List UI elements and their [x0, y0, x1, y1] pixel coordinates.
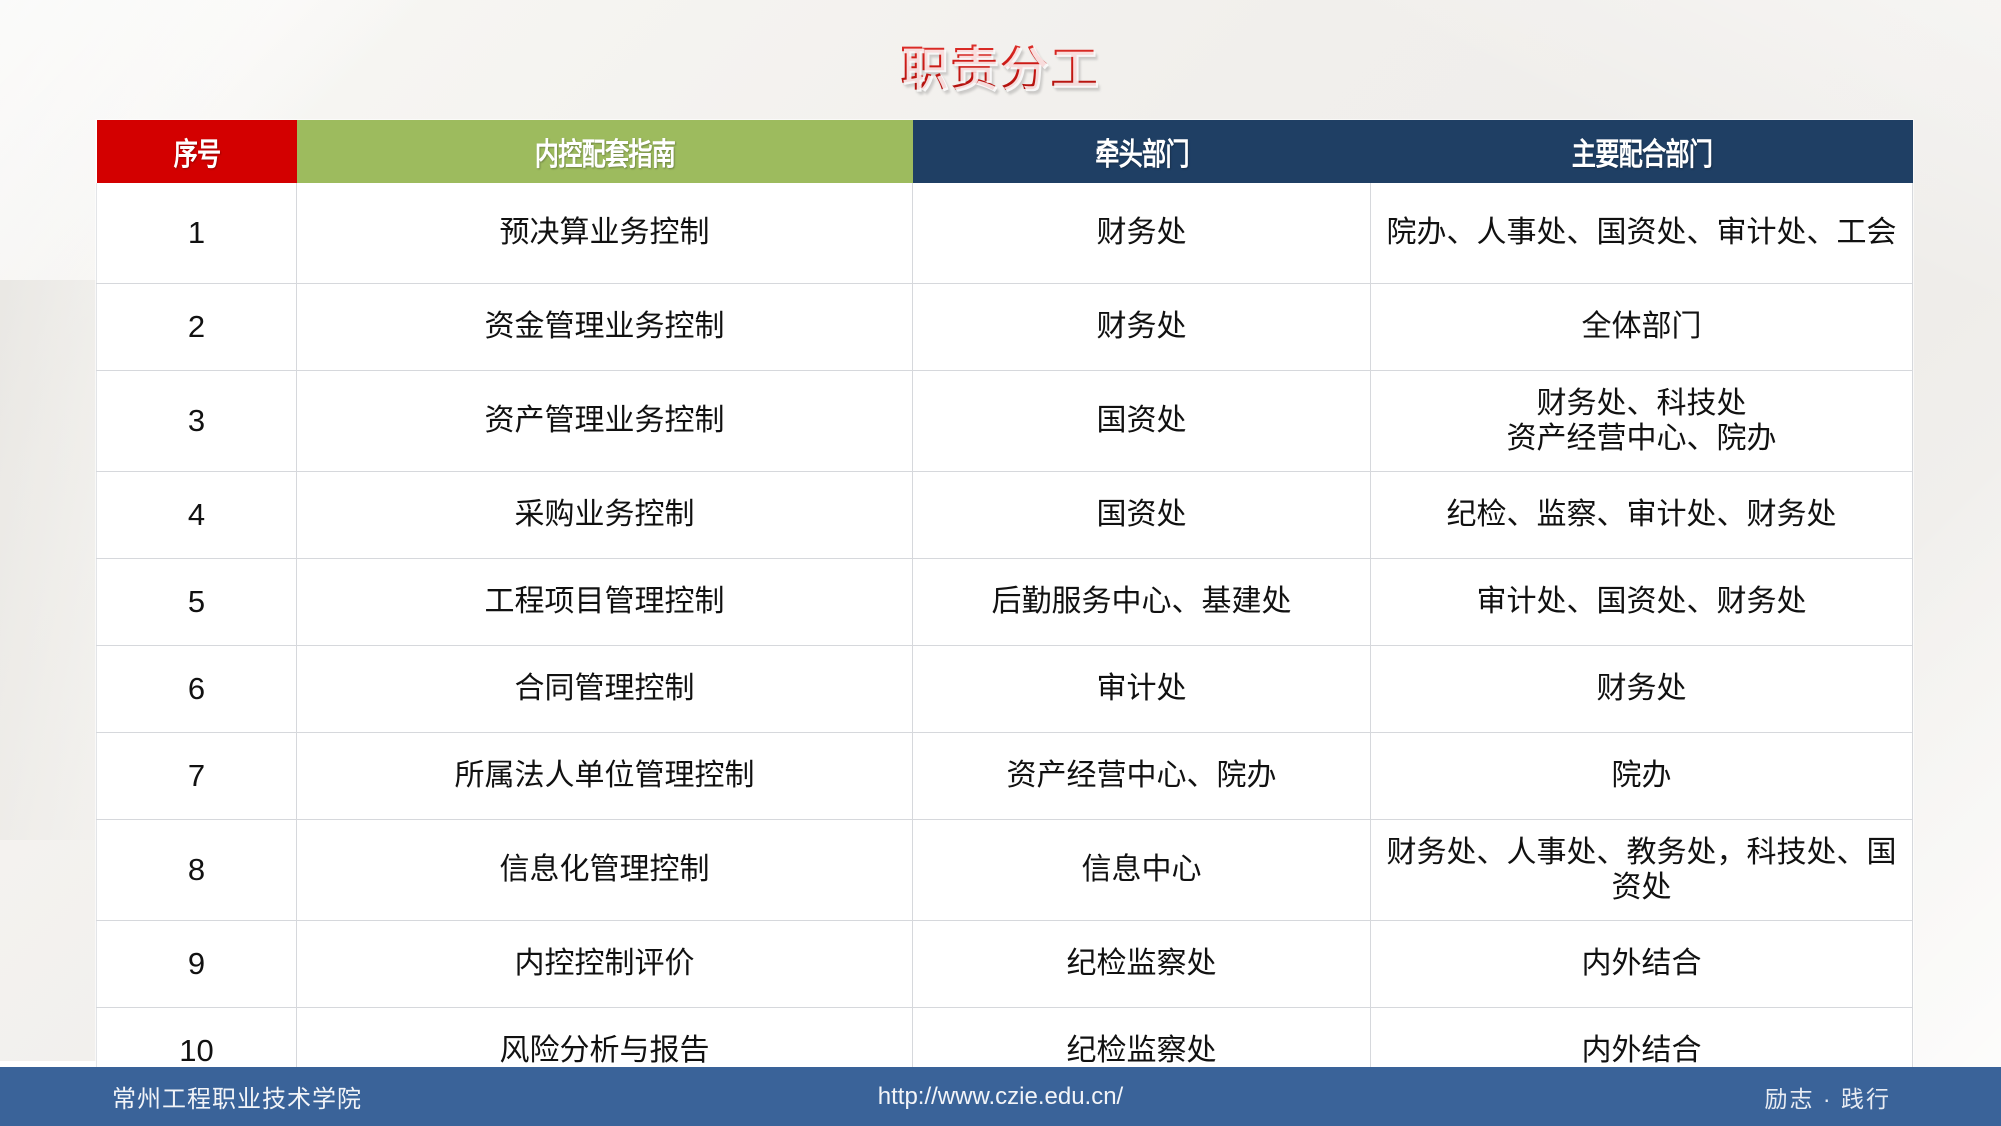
table-header-row: 序号 内控配套指南 牵头部门 主要配合部门 — [97, 120, 1913, 183]
cell-guide: 资金管理业务控制 — [297, 284, 913, 371]
table-row: 8信息化管理控制信息中心财务处、人事处、教务处，科技处、国资处 — [97, 820, 1913, 921]
responsibility-table: 序号 内控配套指南 牵头部门 主要配合部门 1预决算业务控制财务处院办、人事处、… — [96, 120, 1913, 1095]
cell-lead: 财务处 — [913, 183, 1371, 284]
cell-guide: 预决算业务控制 — [297, 183, 913, 284]
cell-guide: 工程项目管理控制 — [297, 559, 913, 646]
table-body: 1预决算业务控制财务处院办、人事处、国资处、审计处、工会2资金管理业务控制财务处… — [97, 183, 1913, 1095]
table-row: 3资产管理业务控制国资处财务处、科技处资产经营中心、院办 — [97, 371, 1913, 472]
cell-coop: 审计处、国资处、财务处 — [1371, 559, 1913, 646]
cell-no: 1 — [97, 183, 297, 284]
cell-coop: 纪检、监察、审计处、财务处 — [1371, 472, 1913, 559]
cell-guide: 合同管理控制 — [297, 646, 913, 733]
cell-coop: 财务处 — [1371, 646, 1913, 733]
page-footer: 常州工程职业技术学院 http://www.czie.edu.cn/ 励志 · … — [0, 1067, 2001, 1126]
cell-no: 3 — [97, 371, 297, 472]
cell-lead: 资产经营中心、院办 — [913, 733, 1371, 820]
table-row: 2资金管理业务控制财务处全体部门 — [97, 284, 1913, 371]
table-row: 5工程项目管理控制后勤服务中心、基建处审计处、国资处、财务处 — [97, 559, 1913, 646]
cell-coop: 全体部门 — [1371, 284, 1913, 371]
cell-coop: 院办、人事处、国资处、审计处、工会 — [1371, 183, 1913, 284]
cell-lead: 信息中心 — [913, 820, 1371, 921]
cell-guide: 内控控制评价 — [297, 921, 913, 1008]
cell-no: 7 — [97, 733, 297, 820]
page-title: 职责分工 — [0, 30, 2001, 99]
cell-lead: 审计处 — [913, 646, 1371, 733]
cell-guide: 资产管理业务控制 — [297, 371, 913, 472]
header-label-guide: 内控配套指南 — [534, 129, 674, 174]
header-cell-lead: 牵头部门 — [913, 120, 1371, 183]
header-cell-guide: 内控配套指南 — [297, 120, 913, 183]
cell-lead: 国资处 — [913, 371, 1371, 472]
header-label-no: 序号 — [173, 129, 220, 174]
cell-no: 4 — [97, 472, 297, 559]
cell-coop: 财务处、人事处、教务处，科技处、国资处 — [1371, 820, 1913, 921]
cell-coop: 内外结合 — [1371, 921, 1913, 1008]
cell-lead: 国资处 — [913, 472, 1371, 559]
header-label-coop: 主要配合部门 — [1571, 129, 1711, 174]
cell-lead: 财务处 — [913, 284, 1371, 371]
header-cell-coop: 主要配合部门 — [1371, 120, 1913, 183]
cell-no: 2 — [97, 284, 297, 371]
cell-no: 5 — [97, 559, 297, 646]
cell-lead: 纪检监察处 — [913, 921, 1371, 1008]
cell-guide: 采购业务控制 — [297, 472, 913, 559]
header-cell-no: 序号 — [97, 120, 297, 183]
cell-no: 6 — [97, 646, 297, 733]
cell-guide: 信息化管理控制 — [297, 820, 913, 921]
footer-motto: 励志 · 践行 — [1765, 1080, 1891, 1114]
cell-lead: 后勤服务中心、基建处 — [913, 559, 1371, 646]
header-label-lead: 牵头部门 — [1095, 129, 1189, 174]
cell-no: 9 — [97, 921, 297, 1008]
cell-coop: 院办 — [1371, 733, 1913, 820]
table-row: 6合同管理控制审计处财务处 — [97, 646, 1913, 733]
footer-school-name: 常州工程职业技术学院 — [112, 1079, 362, 1114]
responsibility-table-container: 序号 内控配套指南 牵头部门 主要配合部门 1预决算业务控制财务处院办、人事处、… — [96, 120, 1912, 1095]
table-row: 7所属法人单位管理控制资产经营中心、院办院办 — [97, 733, 1913, 820]
table-row: 9内控控制评价纪检监察处内外结合 — [97, 921, 1913, 1008]
cell-coop: 财务处、科技处资产经营中心、院办 — [1371, 371, 1913, 472]
cell-no: 8 — [97, 820, 297, 921]
table-row: 4采购业务控制国资处纪检、监察、审计处、财务处 — [97, 472, 1913, 559]
footer-url[interactable]: http://www.czie.edu.cn/ — [878, 1083, 1123, 1111]
table-row: 1预决算业务控制财务处院办、人事处、国资处、审计处、工会 — [97, 183, 1913, 284]
cell-guide: 所属法人单位管理控制 — [297, 733, 913, 820]
